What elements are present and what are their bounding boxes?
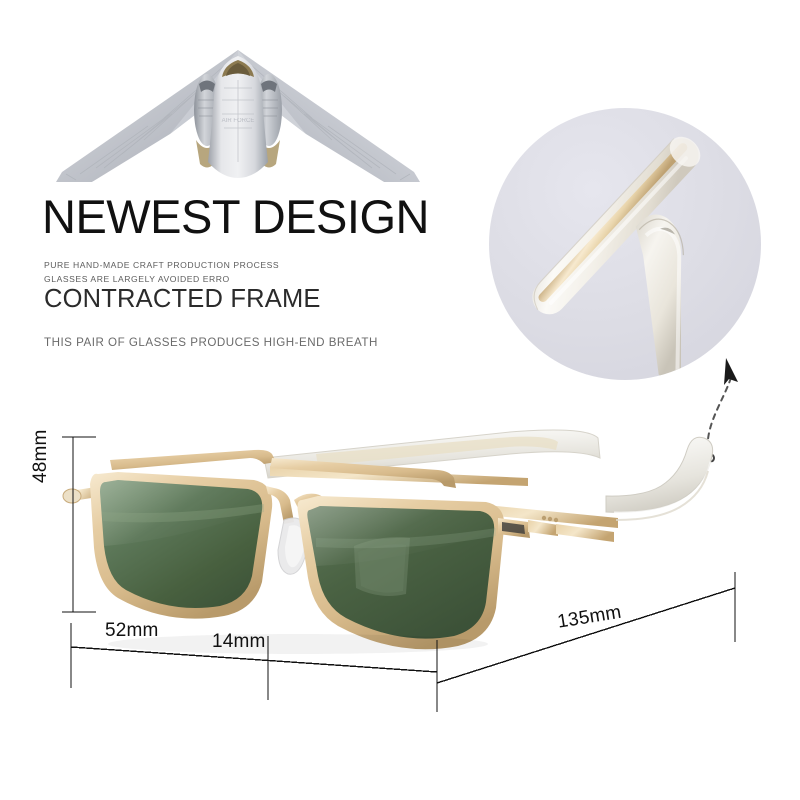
dimension-label-bridge-width: 14mm (212, 631, 266, 653)
product-marketing-image: AIR FORCE NEWEST DESIGN PURE HAND-MADE C… (0, 0, 800, 800)
sub-copy-line-1: PURE HAND-MADE CRAFT PRODUCTION PROCESS (44, 258, 279, 272)
stealth-bomber-image: AIR FORCE (52, 22, 424, 202)
sub-copy-line-2: GLASSES ARE LARGELY AVOIDED ERRO (44, 272, 279, 286)
tagline: THIS PAIR OF GLASSES PRODUCES HIGH-END B… (44, 336, 378, 349)
temple-tip-closeup-inset (489, 108, 761, 380)
dimension-label-lens-width: 52mm (105, 620, 159, 642)
sunglasses-product-photo (58, 400, 758, 700)
sub-copy: PURE HAND-MADE CRAFT PRODUCTION PROCESS … (44, 258, 279, 286)
dimension-label-lens-height: 48mm (30, 429, 52, 483)
headline: NEWEST DESIGN (42, 193, 429, 240)
svg-text:AIR FORCE: AIR FORCE (222, 118, 255, 124)
subheadline: CONTRACTED FRAME (44, 287, 321, 313)
